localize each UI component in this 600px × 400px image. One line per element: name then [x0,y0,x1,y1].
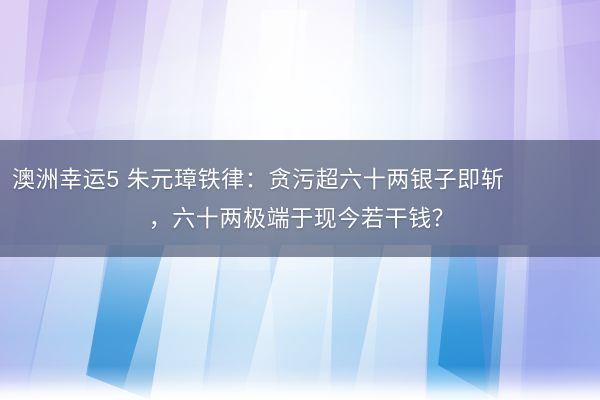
prism-facets-lower [0,245,600,400]
caption-line-2: ，六十两极端于现今若干钱？ [149,199,456,238]
article-thumbnail-banner: 澳洲幸运5 朱元璋铁律：贪污超六十两银子即斩 ，六十两极端于现今若干钱？ [0,0,600,400]
caption-band: 澳洲幸运5 朱元璋铁律：贪污超六十两银子即斩 ，六十两极端于现今若干钱？ [0,140,600,257]
caption-line-1: 澳洲幸运5 朱元璋铁律：贪污超六十两银子即斩 [12,160,504,199]
